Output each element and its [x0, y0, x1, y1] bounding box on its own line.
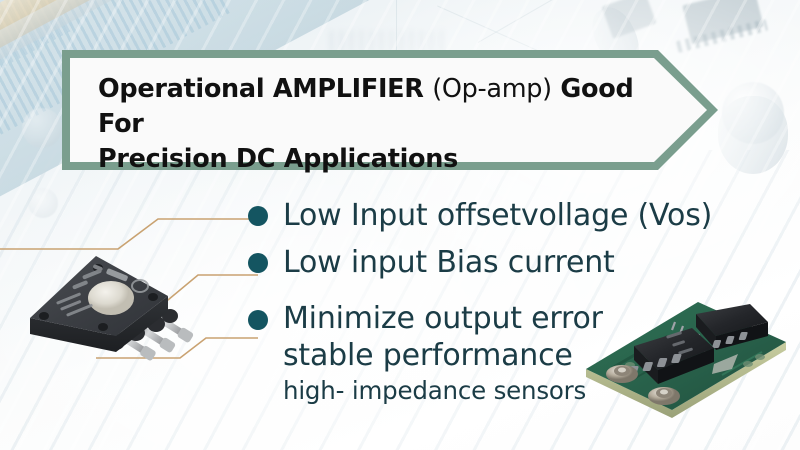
bullet-1-line-1: Low Input offsetvollage (Vos) [283, 196, 712, 236]
op-amp-module-photo [4, 246, 219, 406]
bullet-text-3: Minimize output error stable performance… [283, 300, 603, 407]
bullet-3-line-3: high- impedance sensors [283, 374, 603, 407]
bullet-2-line-1: Low input Bias current [283, 243, 615, 283]
banner-title-text: Operational AMPLIFIER (Op-amp) Good For … [98, 72, 658, 177]
bullet-text-2: Low input Bias current [283, 243, 615, 283]
bullet-list: Low Input offsetvollage (Vos) Low input … [248, 196, 768, 407]
bullet-item-3: Minimize output error stable performance… [248, 300, 768, 407]
bullet-dot-icon [248, 206, 268, 226]
bullet-item-2: Low input Bias current [248, 243, 768, 283]
title-banner: Operational AMPLIFIER (Op-amp) Good For … [62, 50, 718, 170]
bullet-text-1: Low Input offsetvollage (Vos) [283, 196, 712, 236]
title-line2: Precision DC Applications [98, 144, 458, 174]
bullet-3-line-2: stable performance [283, 337, 603, 374]
module-circular-window [88, 281, 134, 315]
title-line1-bold-a: Operational AMPLIFIER [98, 74, 432, 104]
bullet-item-1: Low Input offsetvollage (Vos) [248, 196, 768, 236]
title-line1-light: (Op-amp) [432, 74, 552, 104]
bullet-3-line-1: Minimize output error [283, 300, 603, 337]
bullet-dot-icon [248, 253, 268, 273]
bullet-dot-icon [248, 310, 268, 330]
